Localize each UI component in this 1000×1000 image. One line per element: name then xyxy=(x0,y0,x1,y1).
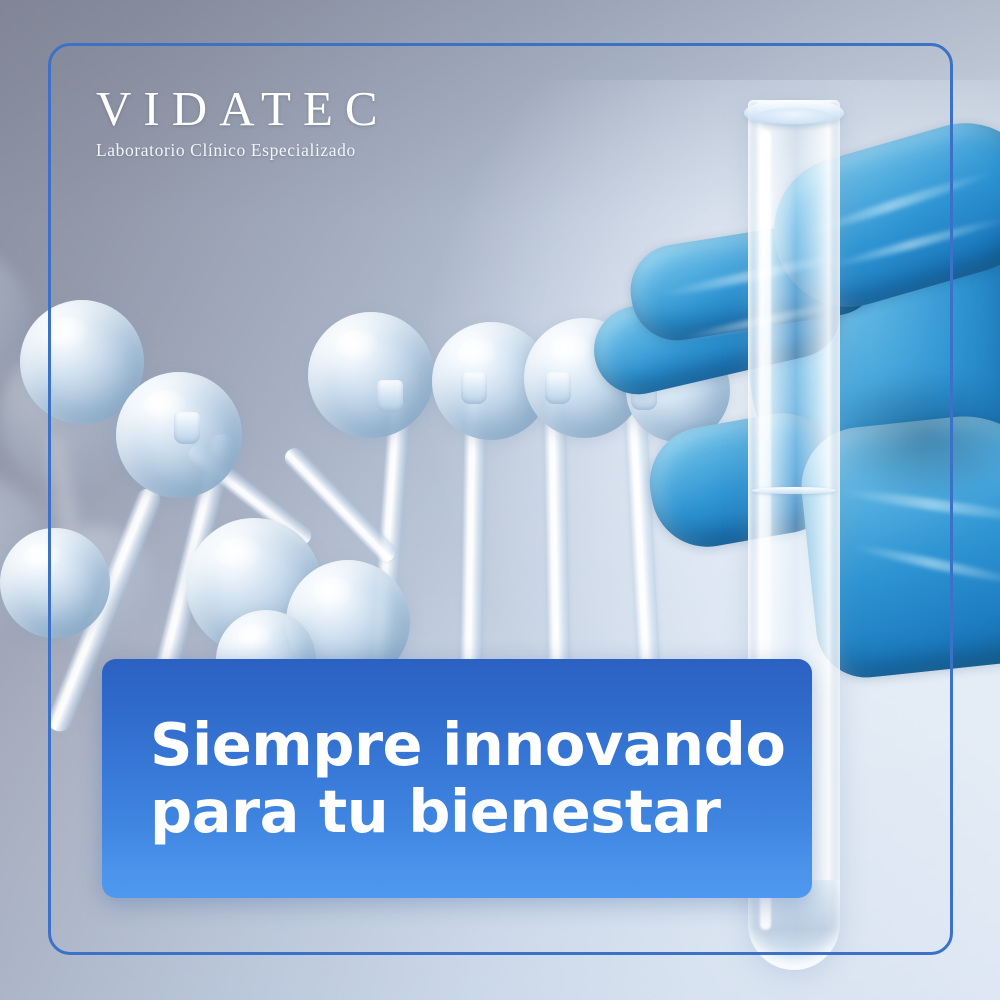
logo-wordmark: VIDATEC xyxy=(96,84,516,133)
dna-knob xyxy=(174,412,200,444)
headline-line-1: Siempre innovando xyxy=(150,712,812,778)
dna-rod xyxy=(543,392,570,704)
test-tube-liquid-line xyxy=(752,487,836,494)
logo-tagline: Laboratorio Clínico Especializado xyxy=(96,140,516,161)
brand-logo: VIDATEC Laboratorio Clínico Especializad… xyxy=(96,84,516,161)
dna-knob xyxy=(545,372,571,404)
dna-knob xyxy=(377,380,403,412)
headline-banner: Siempre innovando para tu bienestar xyxy=(102,659,812,898)
dna-sphere xyxy=(308,312,434,438)
dna-knob xyxy=(461,372,487,404)
headline-line-2: para tu bienestar xyxy=(150,779,812,845)
promotional-poster: VIDATEC Laboratorio Clínico Especializad… xyxy=(0,0,1000,1000)
dna-sphere xyxy=(0,528,110,638)
test-tube-opening xyxy=(757,108,831,124)
